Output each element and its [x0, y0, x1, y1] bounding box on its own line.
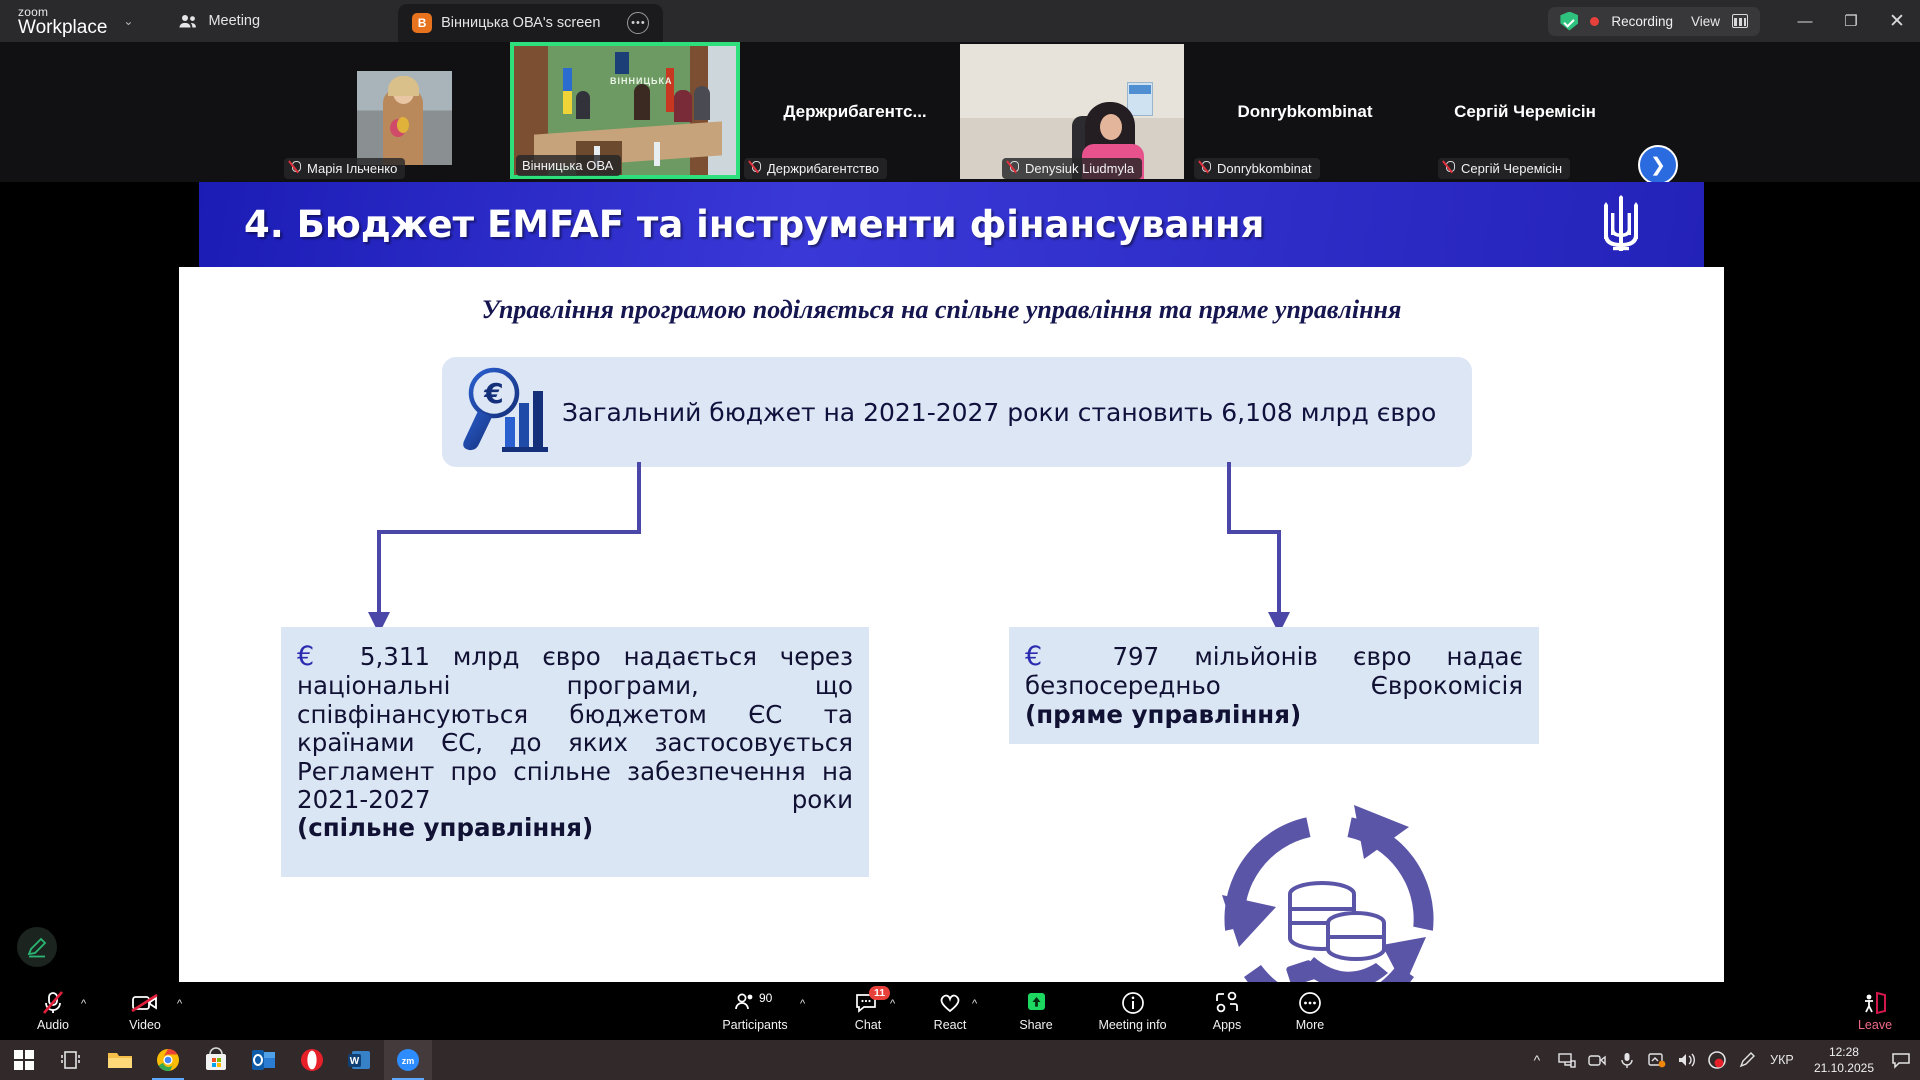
toolbar-leave-label: Leave	[1858, 1018, 1892, 1032]
participant-namebar: Сергій Черемісін	[1438, 158, 1570, 179]
ukraine-trident-icon	[1598, 195, 1644, 253]
total-budget-box: € Загальний бюджет на 2021-2027 роки ста…	[442, 357, 1472, 467]
chevron-down-icon[interactable]: ⌄	[123, 14, 133, 28]
participant-name: Denysiuk Liudmyla	[1025, 161, 1134, 176]
onedrive-icon[interactable]	[1642, 1040, 1672, 1080]
participant-tile[interactable]: Марія Ільченко	[280, 42, 510, 182]
leave-meeting-icon	[1862, 991, 1888, 1015]
tab-shared-screen-label: Вінницька ОВА's screen	[441, 15, 600, 31]
slide-header: 4. Бюджет EMFAF та інструменти фінансува…	[199, 182, 1704, 267]
slide-content-card: Управління програмою поділяється на спіл…	[199, 267, 1684, 982]
maximize-restore-button[interactable]: ❐	[1828, 0, 1874, 42]
audio-options-caret-icon[interactable]: ^	[81, 998, 86, 1010]
start-icon[interactable]	[0, 1040, 48, 1080]
participant-tile[interactable]: Donrybkombinat Donrybkombinat	[1190, 42, 1420, 182]
direct-management-body: 797 мільйонів євро надає безпосередньо Є…	[1025, 642, 1523, 700]
file-explorer-icon[interactable]	[96, 1040, 144, 1080]
participants-options-caret-icon[interactable]: ^	[800, 998, 805, 1010]
toolbar-video-button[interactable]: Video	[110, 982, 180, 1040]
volume-icon[interactable]	[1672, 1040, 1702, 1080]
direct-management-box: € 797 мільйонів євро надає безпосередньо…	[1009, 627, 1539, 744]
shared-management-text: € 5,311 млрд євро надається через націон…	[297, 641, 853, 843]
minimize-button[interactable]: —	[1782, 0, 1828, 42]
tab-meeting-label: Meeting	[208, 13, 260, 29]
toolbar-meeting-info-label: Meeting info	[1098, 1018, 1166, 1032]
svg-text:€: €	[483, 377, 503, 410]
participant-namebar: Donrybkombinat	[1194, 158, 1320, 179]
toolbar-apps-button[interactable]: Apps	[1195, 982, 1259, 1040]
toolbar-apps-label: Apps	[1213, 1018, 1242, 1032]
toolbar-audio-label: Audio	[37, 1018, 69, 1032]
toolbar-chat-button[interactable]: 11 Chat	[838, 982, 898, 1040]
toolbar-audio-button[interactable]: Audio	[18, 982, 88, 1040]
more-ellipsis-icon	[1298, 991, 1322, 1015]
shared-screen-slide: 4. Бюджет EMFAF та інструменти фінансува…	[199, 182, 1704, 982]
participant-name: Сергій Черемісін	[1461, 161, 1562, 176]
zoom-logo: zoom Workplace	[18, 6, 107, 37]
microphone-muted-icon	[1200, 161, 1211, 176]
microphone-icon[interactable]	[1612, 1040, 1642, 1080]
participant-tile-active-speaker[interactable]: ВІННИЦЬКА Вінницька ОВА	[510, 42, 740, 182]
toolbar-share-button[interactable]: Share	[1000, 982, 1072, 1040]
opera-icon[interactable]	[288, 1040, 336, 1080]
euro-symbol-left: €	[297, 641, 314, 672]
recording-dot-icon	[1590, 17, 1599, 26]
language-indicator[interactable]: УКР	[1762, 1040, 1802, 1080]
microphone-muted-icon	[290, 161, 301, 176]
zoom-brand-large: Workplace	[18, 18, 107, 37]
participant-namebar: Марія Ільченко	[284, 158, 405, 179]
notifications-icon[interactable]	[1886, 1040, 1916, 1080]
zoom-icon[interactable]: zm	[384, 1040, 432, 1080]
share-source-badge: B	[412, 13, 432, 33]
toolbar-share-label: Share	[1019, 1018, 1052, 1032]
svg-text:W: W	[350, 1056, 360, 1067]
layout-view-icon[interactable]	[1732, 14, 1748, 28]
participant-namebar: Держрибагентство	[744, 158, 887, 179]
participant-tile[interactable]: Держрибагентс... Держрибагентство	[740, 42, 970, 182]
camera-muted-icon	[131, 991, 159, 1015]
zoom-titlebar: zoom Workplace ⌄ Meeting B Вінницька ОВА…	[0, 0, 1920, 42]
zoom-brand-small: zoom	[18, 6, 107, 18]
close-button[interactable]: ✕	[1874, 0, 1920, 42]
react-options-caret-icon[interactable]: ^	[972, 998, 977, 1010]
toolbar-more-label: More	[1296, 1018, 1324, 1032]
heart-icon	[938, 991, 962, 1015]
word-icon[interactable]: W	[336, 1040, 384, 1080]
total-budget-text: Загальний бюджет на 2021-2027 роки стано…	[562, 398, 1436, 427]
recording-indicator-group: Recording View	[1548, 7, 1760, 36]
toolbar-react-label: React	[934, 1018, 967, 1032]
participant-namebar: Denysiuk Liudmyla	[1002, 158, 1142, 179]
participant-namebar: Вінницька ОВА	[516, 155, 621, 176]
toolbar-react-button[interactable]: React	[918, 982, 982, 1040]
overflow-menu-icon[interactable]: •••	[627, 12, 649, 34]
toolbar-video-label: Video	[129, 1018, 161, 1032]
participant-filmstrip: Марія Ільченко ВІННИЦЬКА Вінницька ОВА	[0, 42, 1920, 182]
microphone-muted-icon	[1444, 161, 1455, 176]
chat-options-caret-icon[interactable]: ^	[890, 998, 895, 1010]
toolbar-more-button[interactable]: More	[1278, 982, 1342, 1040]
network-icon[interactable]	[1552, 1040, 1582, 1080]
chat-icon: 11	[855, 991, 881, 1015]
filmstrip-next-button[interactable]: ❯	[1638, 145, 1678, 185]
shared-management-body: 5,311 млрд євро надається через націонал…	[297, 642, 853, 814]
microsoft-store-icon[interactable]	[192, 1040, 240, 1080]
participant-display-name: Держрибагентс...	[740, 102, 970, 122]
annotate-button[interactable]	[17, 927, 57, 967]
apps-icon	[1214, 991, 1240, 1015]
microphone-muted-icon	[750, 161, 761, 176]
participant-name: Вінницька ОВА	[522, 158, 613, 173]
participant-tile[interactable]: Denysiuk Liudmyla	[960, 42, 1190, 182]
slide-title: 4. Бюджет EMFAF та інструменти фінансува…	[244, 203, 1264, 246]
tab-meeting[interactable]: Meeting	[161, 0, 278, 42]
clock-date: 21.10.2025	[1814, 1060, 1874, 1076]
people-icon	[179, 14, 199, 28]
toolbar-participants-label: Participants	[722, 1018, 787, 1032]
video-options-caret-icon[interactable]: ^	[177, 998, 182, 1010]
slide-subtitle: Управління програмою поділяється на спіл…	[199, 295, 1684, 325]
participants-icon: 90	[733, 991, 777, 1015]
participant-name: Donrybkombinat	[1217, 161, 1312, 176]
participant-display-name: Сергій Черемісін	[1410, 102, 1640, 122]
info-icon	[1121, 991, 1145, 1015]
toolbar-chat-label: Chat	[855, 1018, 881, 1032]
euro-symbol-right: €	[1025, 641, 1042, 672]
microphone-muted-icon	[1008, 161, 1019, 176]
participant-display-name: Donrybkombinat	[1190, 102, 1420, 122]
pen-tray-icon[interactable]	[1732, 1040, 1762, 1080]
task-view-icon[interactable]	[48, 1040, 96, 1080]
camera-icon[interactable]	[1582, 1040, 1612, 1080]
taskbar-clock[interactable]: 12:28 21.10.2025	[1802, 1044, 1886, 1076]
slide-body: Управління програмою поділяється на спіл…	[179, 267, 1724, 982]
zoom-meeting-toolbar: Audio ^ Video ^ 90 Participants ^	[0, 982, 1920, 1040]
participant-name: Марія Ільченко	[307, 161, 397, 176]
toolbar-participants-button[interactable]: 90 Participants	[710, 982, 800, 1040]
shared-management-bold: (спільне управління)	[297, 814, 853, 842]
chrome-icon[interactable]	[144, 1040, 192, 1080]
opera-tray-icon[interactable]	[1702, 1040, 1732, 1080]
participant-name: Держрибагентство	[767, 161, 879, 176]
euro-magnifier-chart-icon: €	[458, 365, 558, 461]
clock-time: 12:28	[1814, 1044, 1874, 1060]
windows-taskbar: W zm ^ УКР 12:28 21.10.2025	[0, 1040, 1920, 1080]
share-screen-icon	[1024, 991, 1048, 1015]
chat-unread-badge: 11	[869, 986, 890, 1000]
svg-text:90: 90	[759, 991, 773, 1005]
svg-text:zm: zm	[402, 1056, 415, 1066]
pencil-icon	[26, 936, 48, 958]
view-label[interactable]: View	[1691, 14, 1720, 29]
tab-shared-screen[interactable]: B Вінницька ОВА's screen •••	[398, 4, 663, 42]
direct-management-bold: (пряме управління)	[1025, 701, 1523, 729]
recording-label: Recording	[1611, 14, 1673, 29]
direct-management-text: € 797 мільйонів євро надає безпосередньо…	[1025, 641, 1523, 729]
microphone-muted-icon	[42, 991, 64, 1015]
toolbar-meeting-info-button[interactable]: Meeting info	[1075, 982, 1190, 1040]
participant-tile[interactable]: Сергій Черемісін Сергій Черемісін	[1410, 42, 1640, 182]
chevron-up-icon[interactable]: ^	[1522, 1040, 1552, 1080]
shared-management-box: € 5,311 млрд євро надається через націон…	[281, 627, 869, 877]
participant-video	[357, 71, 452, 165]
outlook-icon[interactable]	[240, 1040, 288, 1080]
encryption-shield-icon[interactable]	[1560, 12, 1578, 31]
system-tray: ^ УКР 12:28 21.10.2025	[1522, 1040, 1920, 1080]
toolbar-leave-button[interactable]: Leave	[1840, 982, 1910, 1040]
